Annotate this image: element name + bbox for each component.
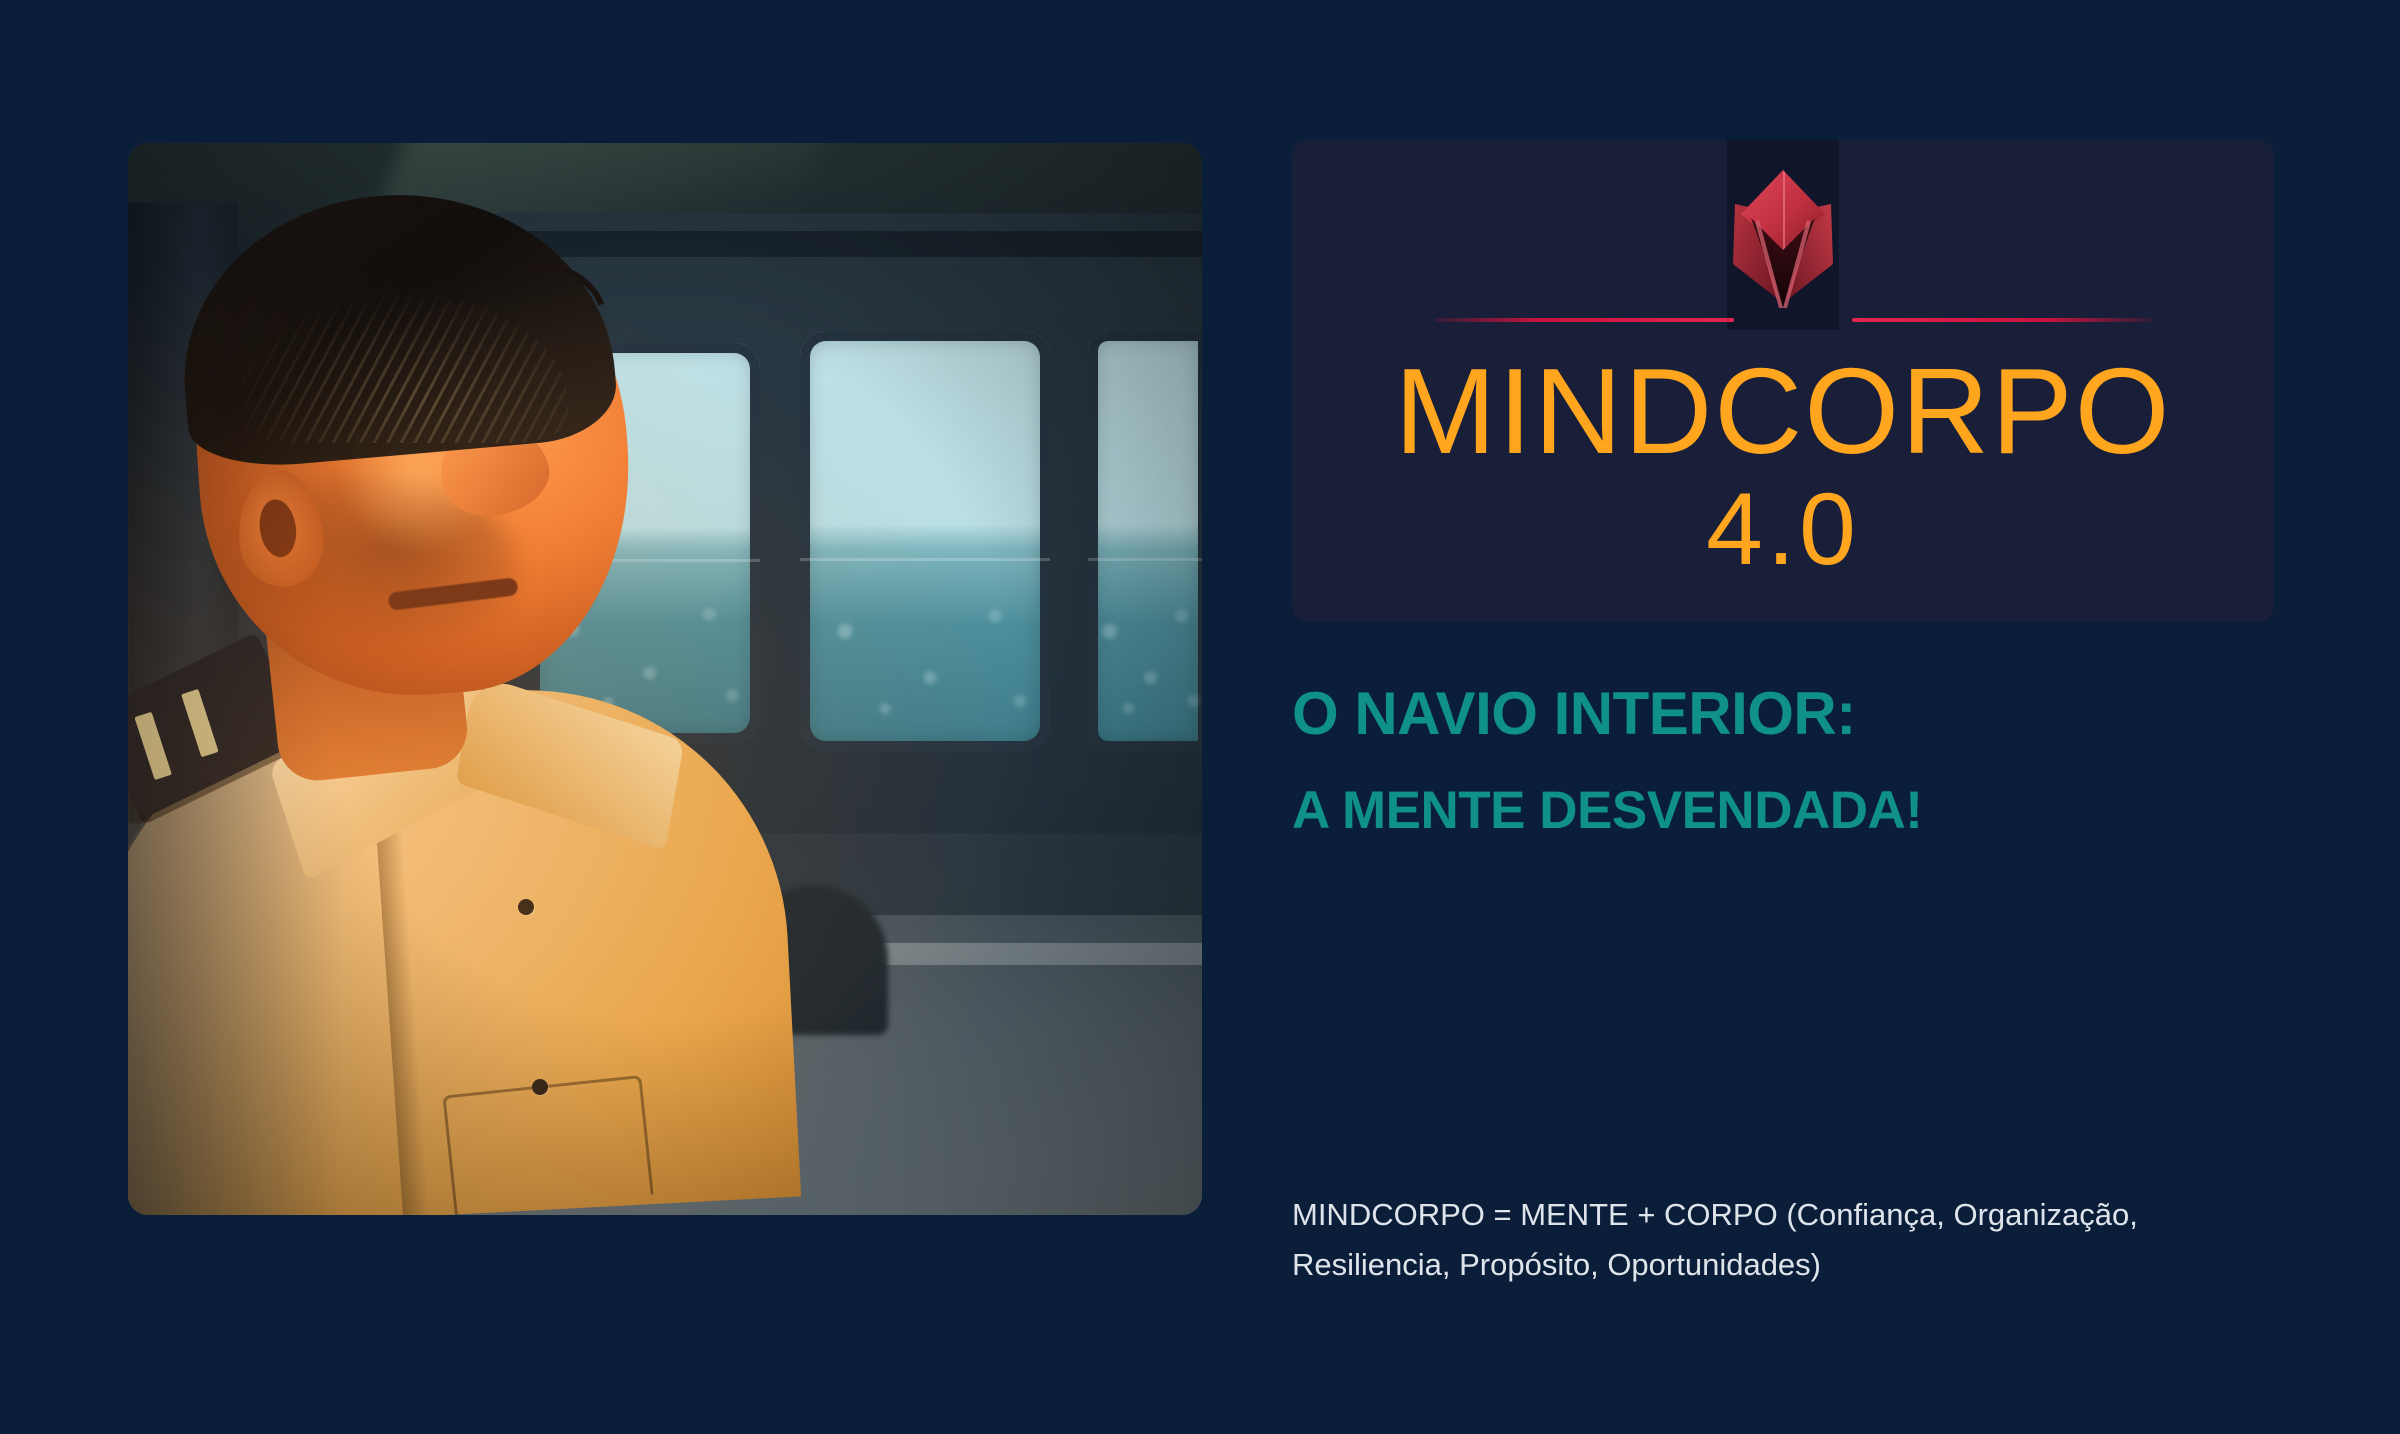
brand-logo-card: MINDCORPO 4.0: [1292, 140, 2274, 622]
content-column: MINDCORPO 4.0 O NAVIO INTERIOR: A MENTE …: [1292, 140, 2274, 844]
headline-line-1: O NAVIO INTERIOR:: [1292, 680, 1856, 747]
bridge-window-right: [1088, 331, 1202, 751]
uniform-button: [518, 899, 534, 915]
uniform-pocket: [442, 1075, 653, 1215]
slide-root: MINDCORPO 4.0 O NAVIO INTERIOR: A MENTE …: [0, 0, 2400, 1434]
logo-rule-right: [1852, 318, 2152, 322]
uniform-button: [532, 1079, 548, 1095]
captain-illustration-card: [128, 143, 1202, 1215]
headline-line-2: A MENTE DESVENDADA!: [1292, 778, 2274, 845]
brand-definition-footnote: MINDCORPO = MENTE + CORPO (Confiança, Or…: [1292, 1190, 2252, 1290]
ship-officer-figure: [128, 205, 848, 1215]
logo-rule-left: [1434, 318, 1734, 322]
illustration-canvas: [128, 143, 1202, 1215]
sea-texture: [1088, 558, 1202, 751]
page-title: O NAVIO INTERIOR: A MENTE DESVENDADA!: [1292, 676, 2274, 844]
brand-version: 4.0: [1292, 478, 2274, 580]
red-crystal-gem-icon: [1719, 158, 1847, 318]
brand-wordmark: MINDCORPO: [1292, 350, 2274, 472]
